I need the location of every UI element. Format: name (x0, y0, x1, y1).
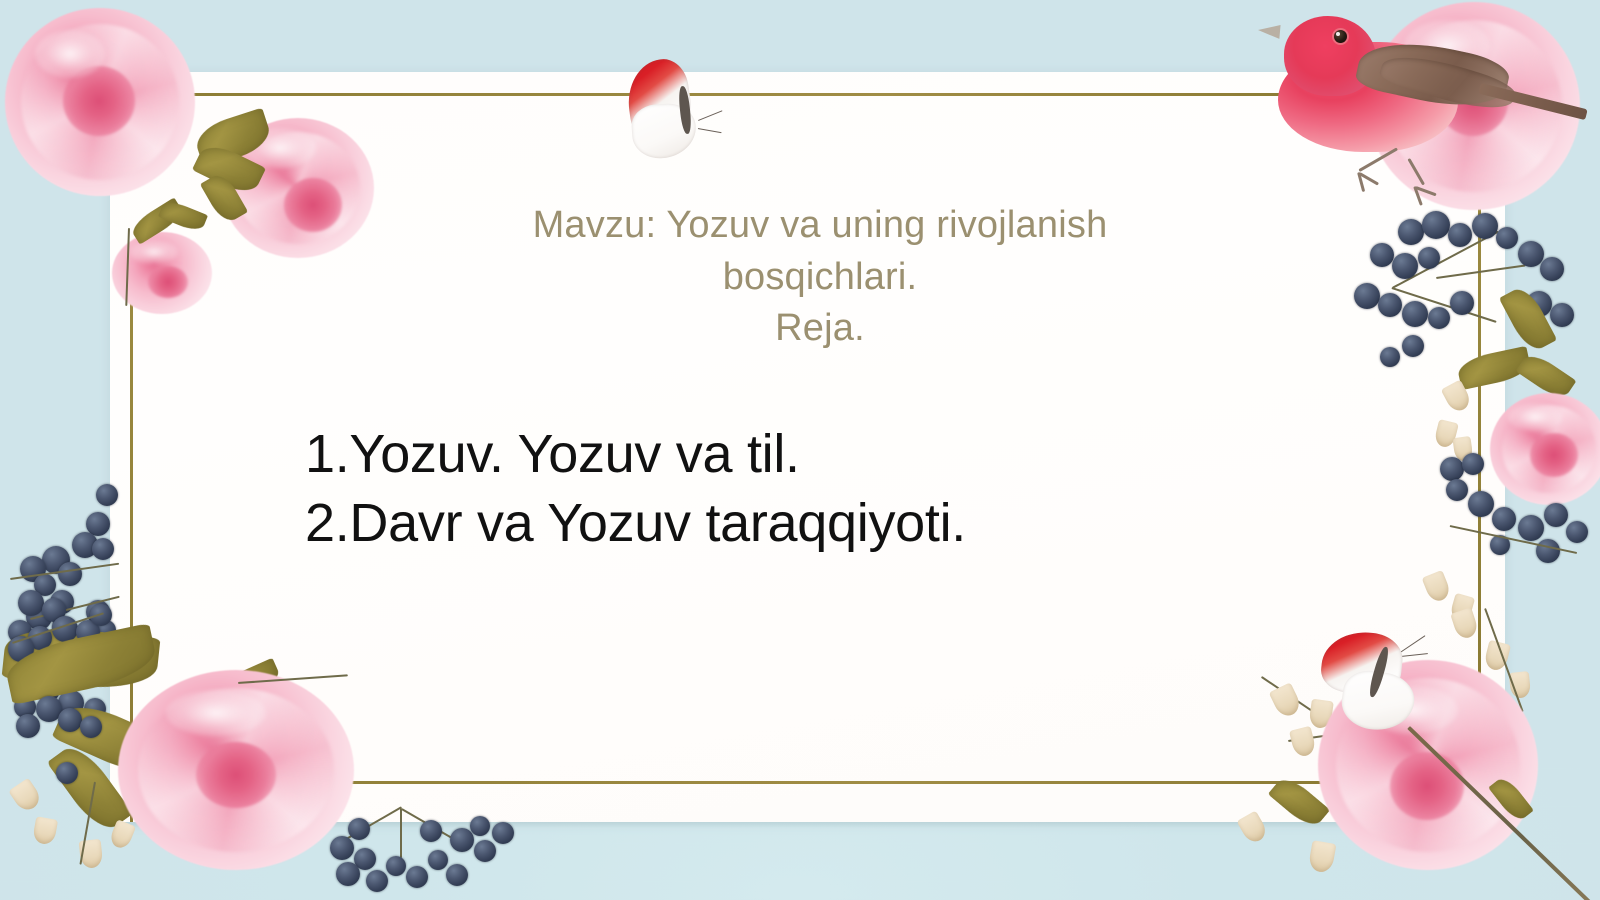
berry-icon (446, 864, 468, 886)
bell-flower-icon (79, 839, 104, 869)
berry-icon (76, 620, 100, 644)
slide-canvas: Mavzu: Yozuv va uning rivojlanish bosqic… (0, 0, 1600, 900)
berry-icon (1544, 503, 1568, 527)
berry-icon (336, 862, 360, 886)
body-line-2: 2.Davr va Yozuv taraqqiyoti. (305, 489, 1355, 558)
berry-icon (42, 546, 70, 574)
title-line-3: Reja. (400, 303, 1240, 355)
berry-icon (58, 708, 82, 732)
frame-line-bottom (190, 781, 1350, 784)
stem-icon (12, 612, 104, 643)
berry-icon (86, 600, 110, 624)
berry-icon (1550, 303, 1574, 327)
berry-icon (84, 698, 106, 720)
berry-icon (50, 590, 74, 614)
berry-icon (86, 512, 110, 536)
berry-icon (72, 532, 98, 558)
berry-icon (58, 690, 84, 716)
berry-icon (90, 604, 112, 626)
bird-eye-icon (1334, 30, 1347, 43)
bell-flower-icon (8, 778, 44, 815)
bell-flower-icon (1509, 671, 1532, 699)
body-line-1: 1.Yozuv. Yozuv va til. (305, 420, 1355, 489)
title-line-1: Mavzu: Yozuv va uning rivojlanish (400, 200, 1240, 252)
berry-icon (52, 616, 78, 642)
berry-icon (1536, 539, 1560, 563)
berry-icon (1566, 521, 1588, 543)
berry-icon (406, 866, 428, 888)
berry-icon (28, 626, 52, 650)
berry-icon (450, 828, 474, 852)
stem-icon (10, 563, 119, 580)
berry-icon (354, 848, 376, 870)
berry-icon (14, 696, 36, 718)
berry-icon (58, 562, 82, 586)
berry-icon (1518, 515, 1544, 541)
berry-icon (36, 696, 62, 722)
berry-icon (42, 598, 66, 622)
berry-icon (20, 556, 46, 582)
berry-icon (1540, 257, 1564, 281)
leaf-icon (1499, 283, 1557, 355)
title-line-2: bosqichlari. (400, 252, 1240, 304)
rose-medium-icon (1490, 393, 1600, 505)
berry-icon (36, 678, 60, 702)
berry-icon (56, 762, 78, 784)
berry-icon (8, 636, 34, 662)
frame-line-left (130, 302, 133, 822)
stem-icon (30, 596, 120, 620)
frame-line-top (190, 93, 1348, 96)
berry-icon (52, 616, 74, 638)
stem-icon (80, 782, 96, 865)
slide-title: Mavzu: Yozuv va uning rivojlanish bosqic… (400, 200, 1240, 355)
berry-icon (330, 836, 354, 860)
berry-icon (366, 870, 388, 892)
berry-icon (34, 574, 56, 596)
berry-icon (474, 840, 496, 862)
leaf-icon (1516, 350, 1577, 403)
berry-icon (428, 850, 448, 870)
frame-line-right (1478, 205, 1481, 713)
berry-icon (18, 590, 44, 616)
slide-body-list: 1.Yozuv. Yozuv va til. 2.Davr va Yozuv t… (305, 420, 1355, 558)
berry-icon (8, 620, 32, 644)
bird-beak-icon (1257, 23, 1280, 39)
bell-flower-icon (32, 816, 58, 845)
berry-icon (1526, 291, 1552, 317)
berry-icon (1518, 241, 1544, 267)
bell-flower-icon (1308, 840, 1337, 874)
berry-icon (80, 716, 102, 738)
berry-icon (16, 714, 40, 738)
berry-icon (386, 856, 406, 876)
berry-icon (26, 604, 52, 630)
